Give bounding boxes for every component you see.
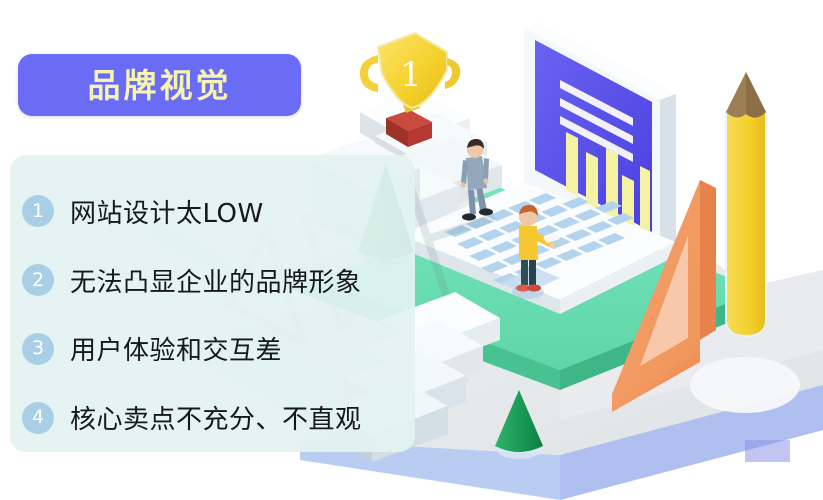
list-item-label: 网站设计太LOW (70, 193, 264, 230)
pencil (726, 72, 766, 336)
list-item: 2 无法凸显企业的品牌形象 (10, 252, 430, 308)
list-item: 4 核心卖点不充分、不直观 (10, 390, 430, 446)
list-item: 3 用户体验和交互差 (10, 321, 430, 377)
list-item-label: 用户体验和交互差 (70, 330, 282, 367)
list-item-number-badge: 3 (22, 333, 54, 365)
list-item-label: 核心卖点不充分、不直观 (70, 399, 362, 436)
brand-title-badge: 品牌视觉 (18, 54, 301, 116)
pain-points-list: 1 网站设计太LOW 2 无法凸显企业的品牌形象 3 用户体验和交互差 4 核心… (10, 155, 430, 452)
list-item: 1 网站设计太LOW (10, 183, 430, 239)
list-item-label: 无法凸显企业的品牌形象 (70, 262, 362, 299)
page-title: 品牌视觉 (88, 69, 232, 102)
trophy-number: 1 (400, 55, 422, 95)
list-item-number-badge: 4 (22, 402, 54, 434)
poster-canvas: 1 (0, 0, 823, 500)
list-item-number-badge: 2 (22, 264, 54, 296)
list-item-number-badge: 1 (22, 195, 54, 227)
